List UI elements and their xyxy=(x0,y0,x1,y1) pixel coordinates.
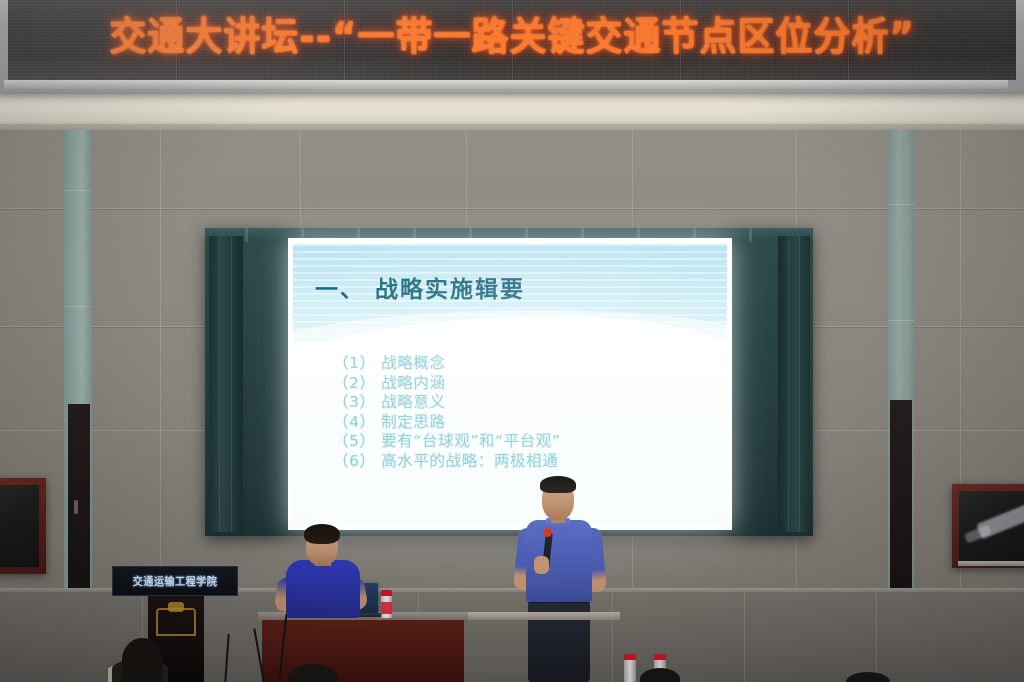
table-surface-extension xyxy=(460,612,620,620)
door-handle-icon xyxy=(74,500,78,514)
audience-head xyxy=(122,638,162,682)
slide-bullet-list: （1） 战略概念 （2） 战略内涵 （3） 战略意义 （4） 制定思路 （5） … xyxy=(333,354,561,471)
operator-shirt xyxy=(286,560,360,618)
screen-curtain-left xyxy=(209,236,243,532)
glass-glare xyxy=(964,524,992,543)
podium-emblem xyxy=(156,608,196,636)
bottle-label xyxy=(381,602,392,614)
display-case-left-glass xyxy=(0,485,39,567)
slide-bullet: （2） 战略内涵 xyxy=(333,374,561,394)
ceiling-soffit xyxy=(0,86,1024,128)
slide-bullet: （3） 战略意义 xyxy=(333,393,561,413)
led-banner-text: 交通大讲坛--“一带一路关键交通节点区位分析” xyxy=(8,4,1016,61)
speaker-hand xyxy=(534,556,549,574)
led-banner-lip xyxy=(4,80,1008,89)
slide-bullet: （1） 战略概念 xyxy=(333,354,561,374)
screen-curtain-right xyxy=(778,236,810,532)
slide-bullet: （6） 高水平的战略：两极相通 xyxy=(333,452,561,472)
bottle-cap xyxy=(381,590,392,596)
presentation-slide: 一、 战略实施辑要 （1） 战略概念 （2） 战略内涵 （3） 战略意义 （4）… xyxy=(293,244,727,524)
slide-bullet: （4） 制定思路 xyxy=(333,413,561,433)
bottle-cap xyxy=(624,654,636,660)
lecture-hall-photo: 交通大讲坛--“一带一路关键交通节点区位分析” xyxy=(0,0,1024,682)
led-banner-frame: 交通大讲坛--“一带一路关键交通节点区位分析” xyxy=(0,0,1024,92)
speaker-hair xyxy=(540,476,576,493)
display-case-right xyxy=(952,484,1024,568)
slide-title: 一、 战略实施辑要 xyxy=(315,270,525,304)
slide-bullet: （5） 要有“台球观”和“平台观” xyxy=(333,432,561,452)
podium-sign-text: 交通运输工程学院 xyxy=(133,573,218,589)
bottle-cap xyxy=(654,654,666,660)
microphone-head-icon xyxy=(543,528,552,537)
podium-sign: 交通运输工程学院 xyxy=(112,566,238,596)
display-case-left xyxy=(0,478,46,574)
display-case-right-glass xyxy=(959,491,1024,561)
display-case-ledge xyxy=(958,561,1024,566)
podium-emblem-top xyxy=(168,602,184,612)
projected-slide-area: 一、 战略实施辑要 （1） 战略概念 （2） 战略内涵 （3） 战略意义 （4）… xyxy=(288,238,732,530)
led-banner-panel: 交通大讲坛--“一带一路关键交通节点区位分析” xyxy=(8,0,1016,80)
operator-hair xyxy=(304,524,340,544)
